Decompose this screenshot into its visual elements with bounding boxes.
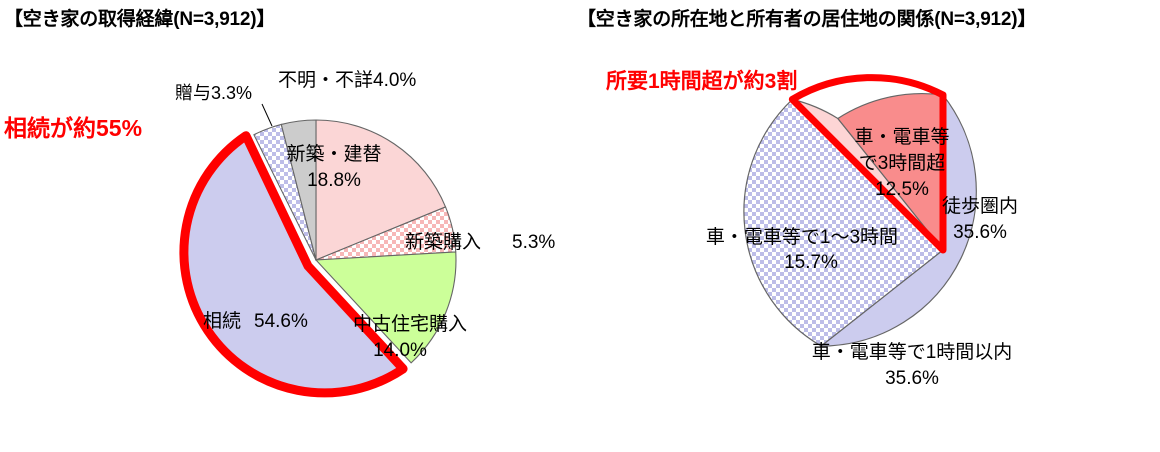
left-chart-panel: 【空き家の取得経緯(N=3,912)】 新築	[0, 0, 580, 452]
label-over3h-value: 12.5%	[875, 179, 929, 200]
label-shinchiku-kounyuu-value: 5.3%	[512, 232, 555, 253]
label-over3h-line1: 車・電車等	[854, 126, 949, 148]
label-fumei-fushou: 不明・不詳4.0%	[278, 69, 416, 91]
label-over3h-line2: で3時間超	[859, 152, 946, 174]
label-souzoku-name: 相続	[203, 310, 241, 332]
label-1to3h-value: 15.7%	[784, 252, 838, 273]
label-chuuko-kounyuu-value: 14.0%	[373, 340, 427, 361]
label-toho-value: 35.6%	[953, 222, 1007, 243]
label-shinchiku-kounyuu-name: 新築購入	[405, 231, 481, 253]
label-within1h-name: 車・電車等で1時間以内	[812, 341, 1013, 363]
label-1to3h-name: 車・電車等で1〜3時間	[706, 226, 898, 248]
left-annotation-text: 相続が約55%	[4, 115, 142, 141]
label-shinchiku-tatekae-value: 18.8%	[307, 170, 361, 191]
label-toho-name: 徒歩圏内	[942, 195, 1018, 217]
label-zouyo: 贈与3.3%	[175, 83, 252, 103]
label-within1h-value: 35.6%	[885, 368, 939, 389]
right-pie-svg: 徒歩圏内 35.6% 車・電車等で1時間以内 35.6% 車・電車等で1〜3時間…	[580, 0, 1160, 452]
label-souzoku-value: 54.6%	[254, 311, 308, 332]
right-chart-panel: 【空き家の所在地と所有者の居住地の関係(N=3,912)】 徒歩圏内 35.6%…	[580, 0, 1160, 452]
right-annotation-text: 所要1時間超が約3割	[606, 69, 797, 93]
label-chuuko-kounyuu-name: 中古住宅購入	[353, 313, 467, 335]
left-pie-svg: 新築・建替 18.8% 新築購入 5.3% 中古住宅購入 14.0% 相続 54…	[0, 0, 580, 452]
leader-line-zouyo	[262, 104, 272, 126]
label-shinchiku-tatekae-name: 新築・建替	[286, 143, 381, 165]
